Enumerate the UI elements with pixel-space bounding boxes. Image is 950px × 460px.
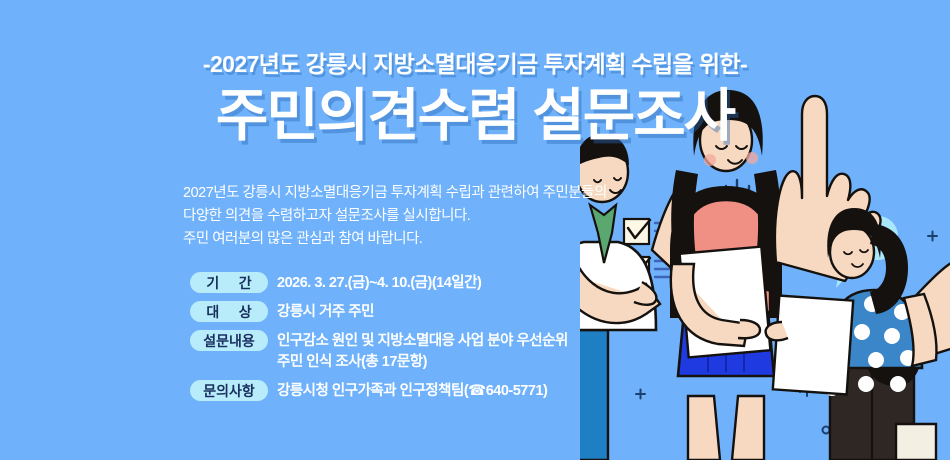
survey-banner: -2027년도 강릉시 지방소멸대응기금 투자계획 수립을 위한- 주민의견수렴… [0,0,950,460]
banner-eyebrow: -2027년도 강릉시 지방소멸대응기금 투자계획 수립을 위한- [0,52,950,77]
info-label-period: 기 간 [190,272,268,293]
paper-sheet [773,296,853,395]
banner-title: 주민의견수렴 설문조사 [0,85,950,149]
info-row-period: 기 간 2026. 3. 27.(금)~4. 10.(금)(14일간) [190,272,568,294]
description-line-1: 2027년도 강릉시 지방소멸대응기금 투자계획 수립과 관련하여 주민분들의 [183,182,607,205]
info-value-target: 강릉시 거주 주민 [277,301,374,323]
info-row-target: 대 상 강릉시 거주 주민 [190,301,568,323]
sparkle-circle-icon [823,427,830,434]
info-label-content: 설문내용 [190,330,268,351]
info-label-target: 대 상 [190,301,268,322]
info-row-content: 설문내용 인구감소 원인 및 지방소멸대응 사업 분야 우선순위 주민 인식 조… [190,330,568,373]
info-row-contact: 문의사항 강릉시청 인구가족과 인구정책팀(☎640-5771) [190,380,568,402]
info-value-contact: 강릉시청 인구가족과 인구정책팀(☎640-5771) [277,380,547,402]
headline-block: -2027년도 강릉시 지방소멸대응기금 투자계획 수립을 위한- 주민의견수렴… [0,52,950,149]
description-line-3: 주민 여러분의 많은 관심과 참여 바랍니다. [183,228,607,251]
banner-description: 2027년도 강릉시 지방소멸대응기금 투자계획 수립과 관련하여 주민분들의 … [183,182,607,251]
survey-info-list: 기 간 2026. 3. 27.(금)~4. 10.(금)(14일간) 대 상 … [190,272,568,409]
info-value-content: 인구감소 원인 및 지방소멸대응 사업 분야 우선순위 주민 인식 조사(총 1… [277,330,568,373]
info-label-contact: 문의사항 [190,380,268,401]
info-value-period: 2026. 3. 27.(금)~4. 10.(금)(14일간) [277,272,481,294]
description-line-2: 다양한 의견을 수렴하고자 설문조사를 실시합니다. [183,205,607,228]
